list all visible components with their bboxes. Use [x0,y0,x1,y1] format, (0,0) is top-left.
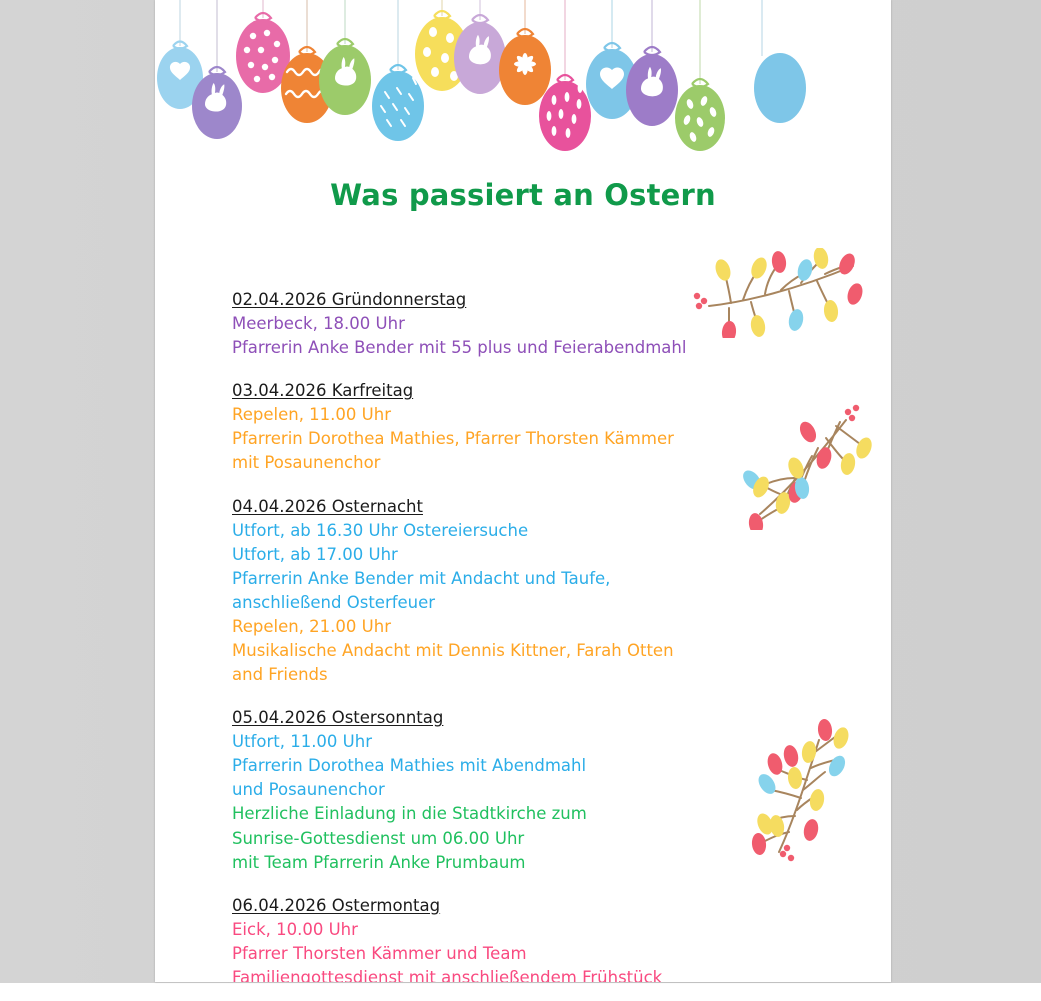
page-title: Was passiert an Ostern [155,178,891,212]
event-line: Utfort, ab 16.30 Uhr Ostereiersuche [232,519,792,543]
event-line: Pfarrerin Dorothea Mathies, Pfarrer Thor… [232,427,792,451]
event-date: 04.04.2026 Osternacht [232,495,423,519]
egg-9 [499,29,551,105]
egg-14 [754,53,806,123]
event-line: and Friends [232,663,792,687]
event-line: anschließend Osterfeuer [232,591,792,615]
event-line: Sunrise-Gottesdienst um 06.00 Uhr [232,827,792,851]
event-block: 04.04.2026 OsternachtUtfort, ab 16.30 Uh… [232,495,792,688]
event-line: Utfort, 11.00 Uhr [232,730,792,754]
event-line: Repelen, 21.00 Uhr [232,615,792,639]
event-date: 06.04.2026 Ostermontag [232,894,440,918]
event-line: Pfarrerin Anke Bender mit Andacht und Ta… [232,567,792,591]
document-page: Was passiert an Ostern [155,0,891,982]
event-line: mit Posaunenchor [232,451,792,475]
event-line: Meerbeck, 18.00 Uhr [232,312,792,336]
egg-8 [454,15,506,94]
event-date: 02.04.2026 Gründonnerstag [232,288,466,312]
event-line: Pfarrerin Dorothea Mathies mit Abendmahl [232,754,792,778]
event-date: 03.04.2026 Karfreitag [232,379,413,403]
event-line: Pfarrer Thorsten Kämmer und Team [232,942,792,966]
event-line: und Posaunenchor [232,778,792,802]
event-block: 06.04.2026 OstermontagEick, 10.00 UhrPfa… [232,894,792,982]
event-line: Pfarrerin Anke Bender mit 55 plus und Fe… [232,336,792,360]
event-block: 05.04.2026 OstersonntagUtfort, 11.00 Uhr… [232,706,792,875]
event-block: 02.04.2026 GründonnerstagMeerbeck, 18.00… [232,288,792,360]
event-line: Familiengottesdienst mit anschließendem … [232,966,792,982]
easter-events-list: 02.04.2026 GründonnerstagMeerbeck, 18.00… [232,288,792,982]
egg-12 [626,47,678,126]
event-line: Repelen, 11.00 Uhr [232,403,792,427]
event-line: Musikalische Andacht mit Dennis Kittner,… [232,639,792,663]
event-line: Herzliche Einladung in die Stadtkirche z… [232,802,792,826]
event-line: Utfort, ab 17.00 Uhr [232,543,792,567]
event-block: 03.04.2026 KarfreitagRepelen, 11.00 UhrP… [232,379,792,475]
event-date: 05.04.2026 Ostersonntag [232,706,443,730]
egg-6 [372,65,424,141]
egg-13 [675,79,725,151]
event-line: mit Team Pfarrerin Anke Prumbaum [232,851,792,875]
egg-5 [319,39,371,115]
easter-egg-garland-banner [155,0,891,160]
event-line: Eick, 10.00 Uhr [232,918,792,942]
